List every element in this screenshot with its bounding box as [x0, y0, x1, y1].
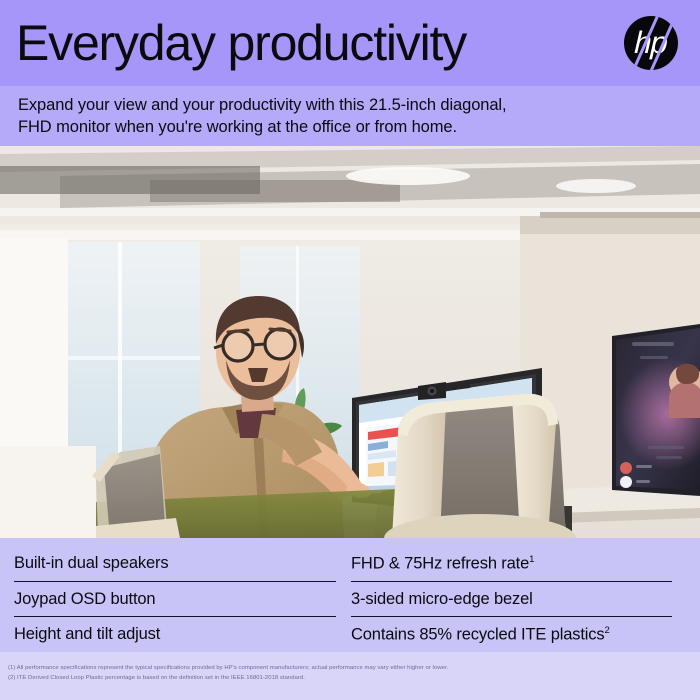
footnote-ref: 1	[529, 554, 534, 565]
feature-item: Contains 85% recycled ITE plastics2	[351, 616, 672, 651]
feature-label: Contains 85% recycled ITE plastics2	[351, 626, 610, 643]
subtitle-line-1: Expand your view and your productivity w…	[18, 94, 682, 116]
subtitle-line-2: FHD monitor when you're working at the o…	[18, 116, 682, 138]
feature-item: Built-in dual speakers	[14, 546, 336, 581]
feature-column-left: Built-in dual speakers Joypad OSD button…	[14, 546, 350, 652]
footnote-2: (2) ITE Derived Closed Loop Plastic perc…	[8, 673, 692, 683]
footnote-ref: 2	[605, 625, 610, 636]
feature-label: 3-sided micro-edge bezel	[351, 591, 533, 608]
header-band: Everyday productivity hp	[0, 0, 700, 86]
feature-item: FHD & 75Hz refresh rate1	[351, 546, 672, 581]
product-lifestyle-photo	[0, 146, 700, 538]
feature-column-right: FHD & 75Hz refresh rate1 3-sided micro-e…	[350, 546, 686, 652]
office-scene-illustration	[0, 146, 700, 538]
feature-item: Joypad OSD button	[14, 581, 336, 616]
feature-label: FHD & 75Hz refresh rate1	[351, 555, 534, 572]
feature-list: Built-in dual speakers Joypad OSD button…	[0, 538, 700, 652]
feature-item: Height and tilt adjust	[14, 616, 336, 651]
feature-label: Built-in dual speakers	[14, 555, 168, 572]
feature-item: 3-sided micro-edge bezel	[351, 581, 672, 616]
footnote-1: (1) All performance specifications repre…	[8, 663, 692, 673]
feature-label: Height and tilt adjust	[14, 626, 160, 643]
hp-monitor-marketing-poster: Everyday productivity hp Expand your vie…	[0, 0, 700, 700]
subtitle-band: Expand your view and your productivity w…	[0, 86, 700, 146]
page-title: Everyday productivity	[16, 18, 624, 68]
feature-label: Joypad OSD button	[14, 591, 155, 608]
hp-logo-icon: hp	[624, 16, 678, 70]
footnotes: (1) All performance specifications repre…	[0, 652, 700, 700]
